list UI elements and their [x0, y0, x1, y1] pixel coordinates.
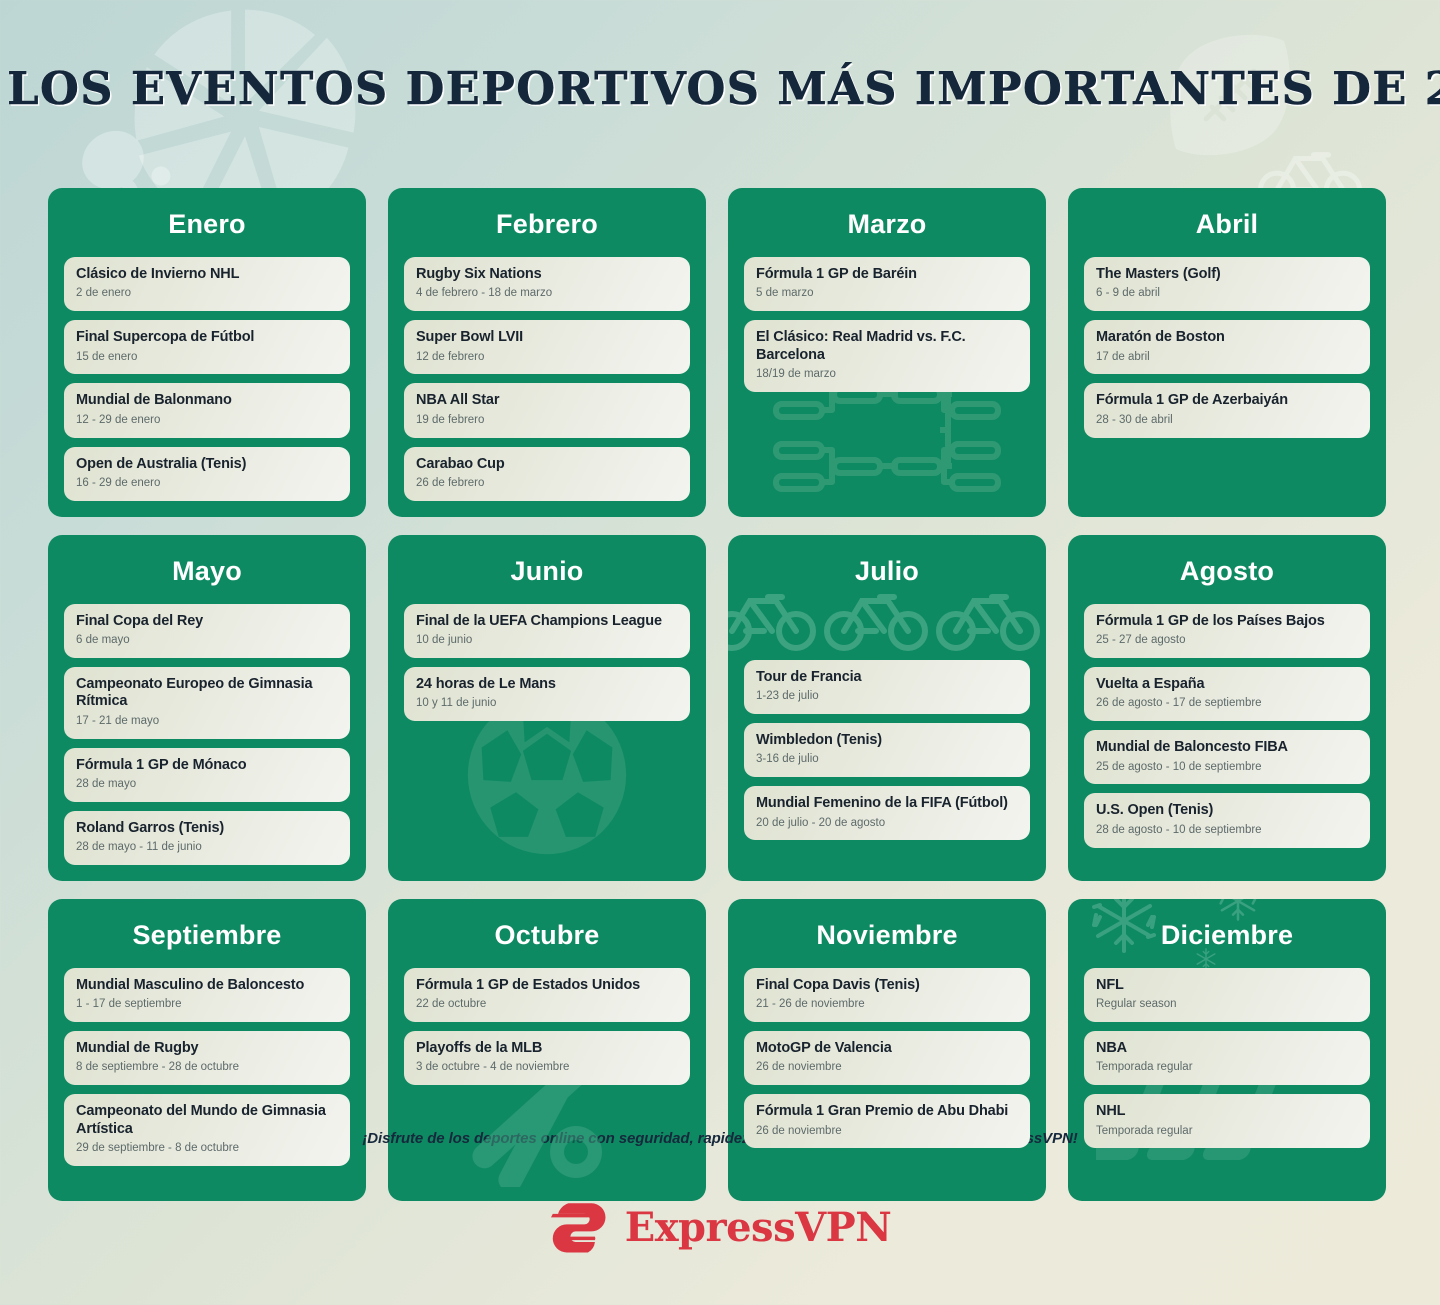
event-item[interactable]: NBA Temporada regular: [1084, 1031, 1370, 1085]
month-title: Junio: [404, 535, 690, 604]
event-title: Mundial de Baloncesto FIBA: [1096, 739, 1358, 756]
event-item[interactable]: Open de Australia (Tenis) 16 - 29 de ene…: [64, 447, 350, 501]
event-list: NFL Regular season NBA Temporada regular…: [1084, 968, 1370, 1149]
event-date: 25 de agosto - 10 de septiembre: [1096, 761, 1358, 775]
event-list: Rugby Six Nations 4 de febrero - 18 de m…: [404, 257, 690, 501]
spacer: [744, 604, 1030, 660]
event-title: Fórmula 1 GP de Baréin: [756, 266, 1018, 283]
month-title: Mayo: [64, 535, 350, 604]
event-title: Roland Garros (Tenis): [76, 820, 338, 837]
event-item[interactable]: NBA All Star 19 de febrero: [404, 383, 690, 437]
event-title: U.S. Open (Tenis): [1096, 802, 1358, 819]
month-title: Agosto: [1084, 535, 1370, 604]
event-date: 21 - 26 de noviembre: [756, 998, 1018, 1012]
event-date: 18/19 de marzo: [756, 368, 1018, 382]
event-item[interactable]: Vuelta a España 26 de agosto - 17 de sep…: [1084, 667, 1370, 721]
event-item[interactable]: 24 horas de Le Mans 10 y 11 de junio: [404, 667, 690, 721]
month-card-marzo[interactable]: Marzo Fórmula 1 GP de Baréin 5 de marzo …: [728, 188, 1046, 517]
event-item[interactable]: Mundial Masculino de Baloncesto 1 - 17 d…: [64, 968, 350, 1022]
event-title: Maratón de Boston: [1096, 329, 1358, 346]
event-date: 28 de agosto - 10 de septiembre: [1096, 824, 1358, 838]
event-title: Campeonato del Mundo de Gimnasia Artísti…: [76, 1103, 338, 1138]
event-date: 25 - 27 de agosto: [1096, 634, 1358, 648]
event-list: Tour de Francia 1-23 de julio Wimbledon …: [744, 660, 1030, 841]
expressvpn-logo[interactable]: ExpressVPN: [0, 1198, 1440, 1256]
month-card-junio[interactable]: Junio Final de la UEFA Champions League …: [388, 535, 706, 881]
event-item[interactable]: MotoGP de Valencia 26 de noviembre: [744, 1031, 1030, 1085]
event-item[interactable]: Final Copa del Rey 6 de mayo: [64, 604, 350, 658]
event-item[interactable]: Fórmula 1 GP de Baréin 5 de marzo: [744, 257, 1030, 311]
event-date: 17 - 21 de mayo: [76, 715, 338, 729]
event-date: 28 de mayo: [76, 778, 338, 792]
event-title: 24 horas de Le Mans: [416, 676, 678, 693]
event-title: Final Copa Davis (Tenis): [756, 977, 1018, 994]
event-date: 1 - 17 de septiembre: [76, 998, 338, 1012]
month-card-septiembre[interactable]: Septiembre Mundial Masculino de Balonces…: [48, 899, 366, 1201]
event-item[interactable]: Rugby Six Nations 4 de febrero - 18 de m…: [404, 257, 690, 311]
event-date: 22 de octubre: [416, 998, 678, 1012]
event-list: Fórmula 1 GP de los Países Bajos 25 - 27…: [1084, 604, 1370, 848]
event-date: 3-16 de julio: [756, 753, 1018, 767]
event-date: 17 de abril: [1096, 351, 1358, 365]
event-item[interactable]: Tour de Francia 1-23 de julio: [744, 660, 1030, 714]
month-title: Enero: [64, 188, 350, 257]
event-item[interactable]: Campeonato Europeo de Gimnasia Rítmica 1…: [64, 667, 350, 739]
event-title: Carabao Cup: [416, 456, 678, 473]
event-date: 15 de enero: [76, 351, 338, 365]
event-title: Mundial Masculino de Baloncesto: [76, 977, 338, 994]
event-title: NHL: [1096, 1103, 1358, 1120]
event-item[interactable]: Playoffs de la MLB 3 de octubre - 4 de n…: [404, 1031, 690, 1085]
event-item[interactable]: Fórmula 1 Gran Premio de Abu Dhabi 26 de…: [744, 1094, 1030, 1148]
event-date: 3 de octubre - 4 de noviembre: [416, 1061, 678, 1075]
event-list: Final Copa del Rey 6 de mayo Campeonato …: [64, 604, 350, 865]
month-title: Julio: [744, 535, 1030, 604]
event-item[interactable]: U.S. Open (Tenis) 28 de agosto - 10 de s…: [1084, 793, 1370, 847]
month-card-noviembre[interactable]: Noviembre Final Copa Davis (Tenis) 21 - …: [728, 899, 1046, 1201]
event-title: The Masters (Golf): [1096, 266, 1358, 283]
event-title: NBA All Star: [416, 392, 678, 409]
event-item[interactable]: Mundial de Baloncesto FIBA 25 de agosto …: [1084, 730, 1370, 784]
month-title: Octubre: [404, 899, 690, 968]
event-date: 12 de febrero: [416, 351, 678, 365]
event-item[interactable]: Final de la UEFA Champions League 10 de …: [404, 604, 690, 658]
event-title: Playoffs de la MLB: [416, 1040, 678, 1057]
event-title: Mundial de Balonmano: [76, 392, 338, 409]
event-date: Temporada regular: [1096, 1061, 1358, 1075]
event-item[interactable]: Campeonato del Mundo de Gimnasia Artísti…: [64, 1094, 350, 1166]
event-date: 5 de marzo: [756, 287, 1018, 301]
event-title: Vuelta a España: [1096, 676, 1358, 693]
event-date: 19 de febrero: [416, 414, 678, 428]
event-date: 20 de julio - 20 de agosto: [756, 817, 1018, 831]
event-item[interactable]: Fórmula 1 GP de Estados Unidos 22 de oct…: [404, 968, 690, 1022]
event-date: 12 - 29 de enero: [76, 414, 338, 428]
event-item[interactable]: Final Supercopa de Fútbol 15 de enero: [64, 320, 350, 374]
event-date: 4 de febrero - 18 de marzo: [416, 287, 678, 301]
event-item[interactable]: Fórmula 1 GP de los Países Bajos 25 - 27…: [1084, 604, 1370, 658]
month-card-octubre[interactable]: Octubre Fórmula 1 GP de Estados Unidos 2…: [388, 899, 706, 1201]
event-title: Fórmula 1 GP de los Países Bajos: [1096, 613, 1358, 630]
event-item[interactable]: Fórmula 1 GP de Mónaco 28 de mayo: [64, 748, 350, 802]
event-date: 28 de mayo - 11 de junio: [76, 841, 338, 855]
event-item[interactable]: El Clásico: Real Madrid vs. F.C. Barcelo…: [744, 320, 1030, 392]
month-card-agosto[interactable]: Agosto Fórmula 1 GP de los Países Bajos …: [1068, 535, 1386, 881]
event-title: Final de la UEFA Champions League: [416, 613, 678, 630]
event-title: Fórmula 1 GP de Mónaco: [76, 757, 338, 774]
event-title: El Clásico: Real Madrid vs. F.C. Barcelo…: [756, 329, 1018, 364]
event-list: The Masters (Golf) 6 - 9 de abril Marató…: [1084, 257, 1370, 438]
event-list: Final de la UEFA Champions League 10 de …: [404, 604, 690, 721]
event-date: 28 - 30 de abril: [1096, 414, 1358, 428]
event-title: Super Bowl LVII: [416, 329, 678, 346]
event-date: 16 - 29 de enero: [76, 477, 338, 491]
event-date: 29 de septiembre - 8 de octubre: [76, 1142, 338, 1156]
month-card-mayo[interactable]: Mayo Final Copa del Rey 6 de mayo Campeo…: [48, 535, 366, 881]
event-item[interactable]: Final Copa Davis (Tenis) 21 - 26 de novi…: [744, 968, 1030, 1022]
event-title: Fórmula 1 Gran Premio de Abu Dhabi: [756, 1103, 1018, 1120]
month-title: Marzo: [744, 188, 1030, 257]
event-date: Regular season: [1096, 998, 1358, 1012]
event-item[interactable]: NFL Regular season: [1084, 968, 1370, 1022]
event-date: 10 y 11 de junio: [416, 697, 678, 711]
event-title: Tour de Francia: [756, 669, 1018, 686]
month-title: Noviembre: [744, 899, 1030, 968]
event-date: 26 de agosto - 17 de septiembre: [1096, 697, 1358, 711]
event-title: MotoGP de Valencia: [756, 1040, 1018, 1057]
month-card-julio[interactable]: Julio Tour de Francia 1-23 de julio Wimb…: [728, 535, 1046, 881]
event-list: Final Copa Davis (Tenis) 21 - 26 de novi…: [744, 968, 1030, 1149]
month-card-diciembre[interactable]: Diciembre NFL Regular season NBA Tempora…: [1068, 899, 1386, 1201]
event-date: Temporada regular: [1096, 1125, 1358, 1139]
event-item[interactable]: Fórmula 1 GP de Azerbaiyán 28 - 30 de ab…: [1084, 383, 1370, 437]
event-item[interactable]: Mundial Femenino de la FIFA (Fútbol) 20 …: [744, 786, 1030, 840]
event-title: Final Copa del Rey: [76, 613, 338, 630]
event-item[interactable]: Roland Garros (Tenis) 28 de mayo - 11 de…: [64, 811, 350, 865]
event-title: Fórmula 1 GP de Estados Unidos: [416, 977, 678, 994]
page-title: LOS EVENTOS DEPORTIVOS MÁS IMPORTANTES D…: [7, 62, 1433, 115]
event-title: Open de Australia (Tenis): [76, 456, 338, 473]
event-title: NBA: [1096, 1040, 1358, 1057]
event-title: Fórmula 1 GP de Azerbaiyán: [1096, 392, 1358, 409]
event-title: Mundial Femenino de la FIFA (Fútbol): [756, 795, 1018, 812]
event-item[interactable]: Super Bowl LVII 12 de febrero: [404, 320, 690, 374]
event-title: Final Supercopa de Fútbol: [76, 329, 338, 346]
event-date: 10 de junio: [416, 634, 678, 648]
month-title: Septiembre: [64, 899, 350, 968]
event-item[interactable]: The Masters (Golf) 6 - 9 de abril: [1084, 257, 1370, 311]
event-item[interactable]: Wimbledon (Tenis) 3-16 de julio: [744, 723, 1030, 777]
event-title: Mundial de Rugby: [76, 1040, 338, 1057]
month-title: Febrero: [404, 188, 690, 257]
event-list: Mundial Masculino de Baloncesto 1 - 17 d…: [64, 968, 350, 1166]
event-date: 6 de mayo: [76, 634, 338, 648]
event-date: 26 de noviembre: [756, 1061, 1018, 1075]
event-title: Wimbledon (Tenis): [756, 732, 1018, 749]
month-title: Abril: [1084, 188, 1370, 257]
event-title: Clásico de Invierno NHL: [76, 266, 338, 283]
event-date: 1-23 de julio: [756, 690, 1018, 704]
event-date: 6 - 9 de abril: [1096, 287, 1358, 301]
event-item[interactable]: Clásico de Invierno NHL 2 de enero: [64, 257, 350, 311]
event-title: Campeonato Europeo de Gimnasia Rítmica: [76, 676, 338, 711]
event-title: Rugby Six Nations: [416, 266, 678, 283]
event-item[interactable]: NHL Temporada regular: [1084, 1094, 1370, 1148]
event-date: 2 de enero: [76, 287, 338, 301]
months-grid: Enero Clásico de Invierno NHL 2 de enero…: [48, 188, 1398, 1201]
event-list: Fórmula 1 GP de Estados Unidos 22 de oct…: [404, 968, 690, 1085]
event-item[interactable]: Mundial de Balonmano 12 - 29 de enero: [64, 383, 350, 437]
expressvpn-wordmark: ExpressVPN: [625, 1204, 892, 1251]
month-card-enero[interactable]: Enero Clásico de Invierno NHL 2 de enero…: [48, 188, 366, 517]
event-item[interactable]: Carabao Cup 26 de febrero: [404, 447, 690, 501]
month-card-abril[interactable]: Abril The Masters (Golf) 6 - 9 de abril …: [1068, 188, 1386, 517]
event-item[interactable]: Maratón de Boston 17 de abril: [1084, 320, 1370, 374]
event-list: Fórmula 1 GP de Baréin 5 de marzo El Clá…: [744, 257, 1030, 392]
month-title: Diciembre: [1084, 899, 1370, 968]
event-title: NFL: [1096, 977, 1358, 994]
event-date: 26 de febrero: [416, 477, 678, 491]
event-date: 26 de noviembre: [756, 1125, 1018, 1139]
event-date: 8 de septiembre - 28 de octubre: [76, 1061, 338, 1075]
month-card-febrero[interactable]: Febrero Rugby Six Nations 4 de febrero -…: [388, 188, 706, 517]
expressvpn-mark-icon: [549, 1198, 611, 1256]
event-item[interactable]: Mundial de Rugby 8 de septiembre - 28 de…: [64, 1031, 350, 1085]
event-list: Clásico de Invierno NHL 2 de enero Final…: [64, 257, 350, 501]
